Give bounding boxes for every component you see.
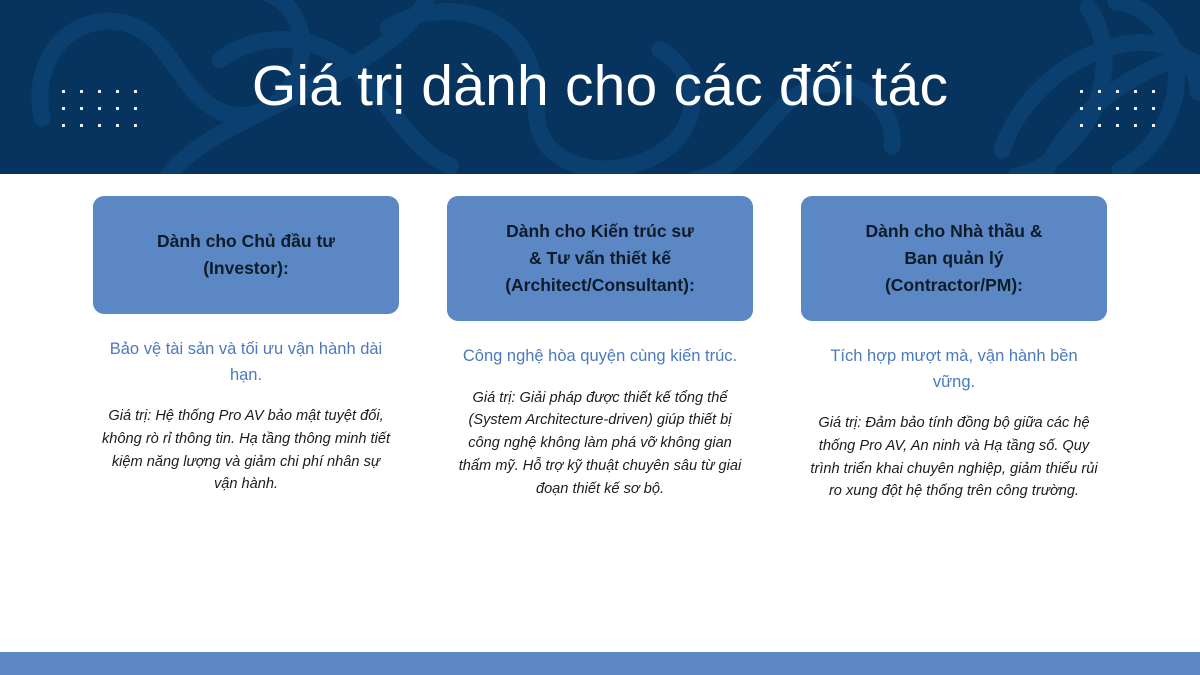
card-header-contractor: Dành cho Nhà thầu & Ban quản lý (Contrac…	[801, 196, 1107, 321]
card-header-line: Dành cho Nhà thầu &	[866, 218, 1043, 245]
card-body-investor: Giá trị: Hệ thống Pro AV bảo mật tuyệt đ…	[101, 405, 391, 496]
card-header-line: Dành cho Kiến trúc sư	[506, 218, 694, 245]
partner-column-investor: Dành cho Chủ đầu tư (Investor): Bảo vệ t…	[93, 196, 399, 496]
card-body-contractor: Giá trị: Đảm bảo tính đồng bộ giữa các h…	[809, 412, 1099, 503]
slide-header-banner: Giá trị dành cho các đối tác	[0, 0, 1200, 174]
card-header-line: & Tư vấn thiết kế	[529, 245, 671, 272]
card-header-line: (Contractor/PM):	[885, 272, 1023, 299]
footer-accent-bar	[0, 652, 1200, 675]
page-title: Giá trị dành cho các đối tác	[0, 0, 1200, 174]
card-header-investor: Dành cho Chủ đầu tư (Investor):	[93, 196, 399, 314]
card-body-architect: Giá trị: Giải pháp được thiết kế tổng th…	[455, 387, 745, 501]
card-header-line: (Investor):	[203, 255, 289, 282]
partner-column-contractor: Dành cho Nhà thầu & Ban quản lý (Contrac…	[801, 196, 1107, 503]
card-subtitle-contractor: Tích hợp mượt mà, vận hành bền vững.	[809, 344, 1099, 395]
card-header-line: (Architect/Consultant):	[505, 272, 695, 299]
card-subtitle-architect: Công nghệ hòa quyện cùng kiến trúc.	[455, 344, 745, 370]
card-header-architect: Dành cho Kiến trúc sư & Tư vấn thiết kế …	[447, 196, 753, 321]
partner-column-architect: Dành cho Kiến trúc sư & Tư vấn thiết kế …	[447, 196, 753, 500]
card-header-line: Dành cho Chủ đầu tư	[157, 228, 335, 255]
card-header-line: Ban quản lý	[904, 245, 1003, 272]
partner-value-columns: Dành cho Chủ đầu tư (Investor): Bảo vệ t…	[0, 174, 1200, 652]
card-subtitle-investor: Bảo vệ tài sản và tối ưu vận hành dài hạ…	[101, 337, 391, 388]
slide-root: Giá trị dành cho các đối tác Dành cho Ch…	[0, 0, 1200, 675]
